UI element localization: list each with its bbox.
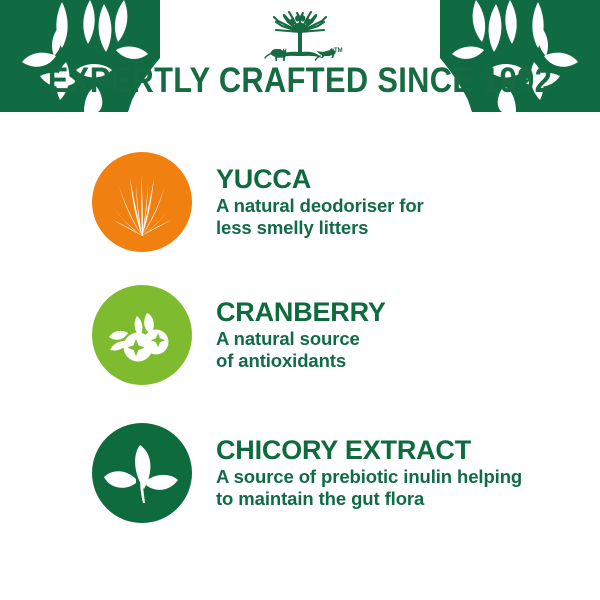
page-title: EXPERTLY CRAFTED SINCE 1992 — [36, 62, 564, 100]
ingredient-title: YUCCA — [216, 165, 424, 194]
ingredient-title: CHICORY EXTRACT — [216, 436, 522, 465]
list-item: YUCCA A natural deodoriser for less smel… — [0, 152, 600, 252]
tree-paw-logo: TM — [254, 8, 346, 66]
trademark-mark: TM — [334, 48, 343, 54]
chicory-leaves-icon — [92, 423, 192, 523]
cranberry-copy: CRANBERRY A natural source of antioxidan… — [216, 298, 386, 372]
ingredient-description: A natural source of antioxidants — [216, 328, 386, 372]
list-item: CRANBERRY A natural source of antioxidan… — [0, 285, 600, 385]
cranberry-badge — [92, 285, 192, 385]
chicory-badge — [92, 423, 192, 523]
ingredient-description: A source of prebiotic inulin helping to … — [216, 466, 522, 510]
ingredient-description: A natural deodoriser for less smelly lit… — [216, 195, 424, 239]
ingredient-benefits-poster: TM EXPERTLY CRAFTED SINCE 1992 — [0, 0, 600, 600]
list-item: CHICORY EXTRACT A source of prebiotic in… — [0, 423, 600, 523]
yucca-plant-icon — [92, 152, 192, 252]
yucca-badge — [92, 152, 192, 252]
chicory-copy: CHICORY EXTRACT A source of prebiotic in… — [216, 436, 522, 510]
cranberry-berries-icon — [92, 285, 192, 385]
header-band: TM EXPERTLY CRAFTED SINCE 1992 — [0, 0, 600, 118]
ingredient-title: CRANBERRY — [216, 298, 386, 327]
yucca-copy: YUCCA A natural deodoriser for less smel… — [216, 165, 424, 239]
